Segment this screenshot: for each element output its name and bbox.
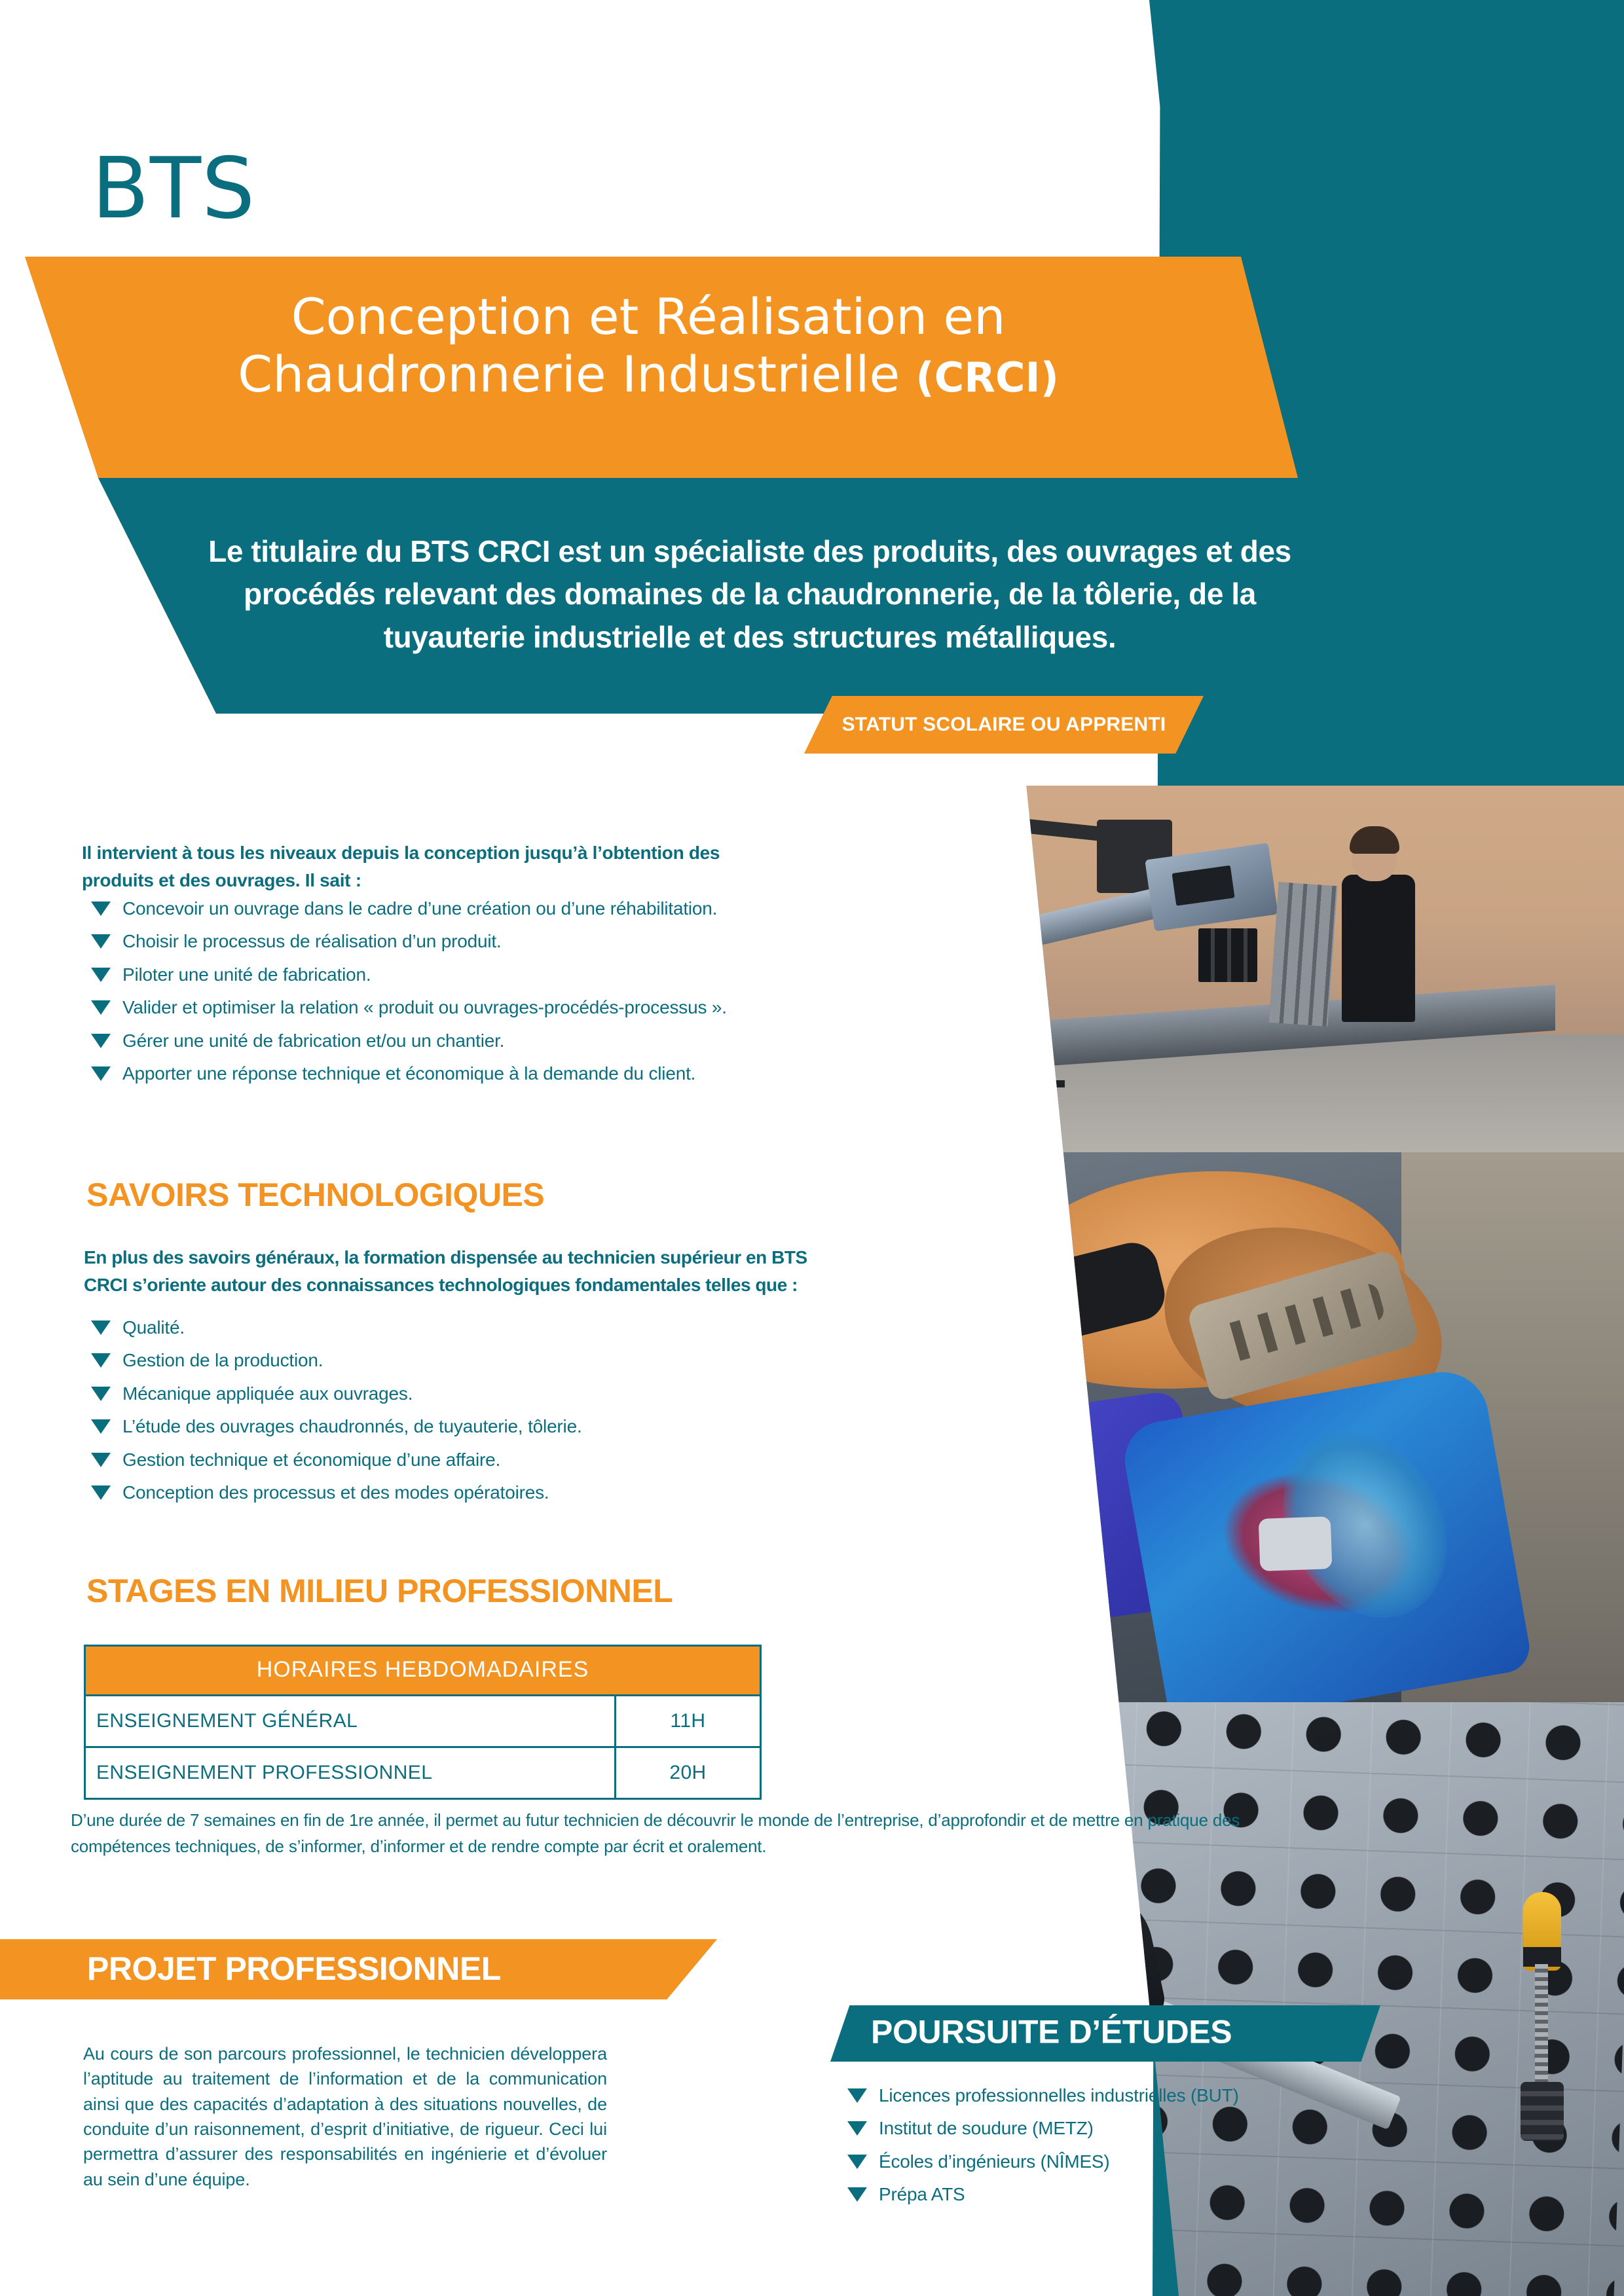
section-heading-stages: STAGES EN MILIEU PROFESSIONNEL: [86, 1575, 673, 1607]
triangle-bullet-icon: [847, 2121, 867, 2136]
triangle-bullet-icon: [91, 1034, 111, 1048]
intro-lead: Il intervient à tous les niveaux depuis …: [82, 839, 783, 894]
table-cell-label: ENSEIGNEMENT PROFESSIONNEL: [85, 1747, 616, 1799]
weekly-hours-table: HORAIRES HEBDOMADAIRES ENSEIGNEMENT GÉNÉ…: [84, 1645, 762, 1800]
triangle-bullet-icon: [91, 1453, 111, 1467]
list-item: Licences professionnelles industrielles …: [838, 2084, 1493, 2107]
title-line-2-wrap: Chaudronnerie Industrielle (CRCI): [138, 346, 1159, 403]
savoirs-list: Qualité. Gestion de la production. Mécan…: [82, 1316, 802, 1514]
triangle-bullet-icon: [91, 968, 111, 982]
stages-paragraph: D’une durée de 7 semaines en fin de 1re …: [71, 1807, 1269, 1860]
intro-list: Concevoir un ouvrage dans le cadre d’une…: [82, 897, 802, 1095]
list-item: Écoles d’ingénieurs (NÎMES): [838, 2150, 1493, 2174]
status-badge-label: STATUT SCOLAIRE OU APPRENTI: [842, 714, 1166, 736]
triangle-bullet-icon: [91, 1419, 111, 1434]
title-line-2: Chaudronnerie Industrielle: [238, 345, 900, 403]
table-cell-value: 11H: [616, 1696, 761, 1747]
triangle-bullet-icon: [91, 1000, 111, 1015]
savoirs-lead: En plus des savoirs généraux, la formati…: [84, 1244, 817, 1299]
list-item-label: Apporter une réponse technique et économ…: [122, 1063, 695, 1084]
list-item-label: Gestion de la production.: [122, 1350, 323, 1370]
list-item-label: Conception des processus et des modes op…: [122, 1482, 549, 1503]
list-item: Mécanique appliquée aux ouvrages.: [82, 1382, 802, 1406]
list-item-label: Piloter une unité de fabrication.: [122, 964, 371, 985]
table-row: ENSEIGNEMENT PROFESSIONNEL 20H: [85, 1747, 761, 1799]
list-item: Prépa ATS: [838, 2183, 1493, 2206]
list-item: Qualité.: [82, 1316, 802, 1339]
list-item: Piloter une unité de fabrication.: [82, 963, 802, 987]
list-item: Apporter une réponse technique et économ…: [82, 1062, 802, 1085]
title-abbreviation: (CRCI): [915, 354, 1058, 401]
section-heading-savoirs: SAVOIRS TECHNOLOGIQUES: [86, 1178, 544, 1211]
section-heading-projet: PROJET PROFESSIONNEL: [87, 1950, 501, 1988]
triangle-bullet-icon: [91, 934, 111, 949]
triangle-bullet-icon: [91, 1321, 111, 1335]
list-item: Gestion technique et économique d’une af…: [82, 1448, 802, 1472]
triangle-bullet-icon: [847, 2088, 867, 2103]
banner-projet-professionnel: PROJET PROFESSIONNEL: [0, 1939, 717, 1999]
list-item: Choisir le processus de réalisation d’un…: [82, 930, 802, 953]
poster-page: BTS Conception et Réalisation en Chaudro…: [0, 0, 1624, 2296]
list-item: Valider et optimiser la relation « produ…: [82, 996, 802, 1019]
list-item-label: Choisir le processus de réalisation d’un…: [122, 931, 502, 951]
list-item: Gérer une unité de fabrication et/ou un …: [82, 1029, 802, 1053]
poursuite-list: Licences professionnelles industrielles …: [838, 2084, 1493, 2216]
triangle-bullet-icon: [847, 2155, 867, 2169]
triangle-bullet-icon: [91, 1387, 111, 1401]
section-heading-poursuite: POURSUITE D’ÉTUDES: [871, 2013, 1232, 2051]
status-badge: STATUT SCOLAIRE OU APPRENTI: [804, 696, 1204, 754]
table-row: ENSEIGNEMENT GÉNÉRAL 11H: [85, 1696, 761, 1747]
list-item-label: Gérer une unité de fabrication et/ou un …: [122, 1030, 504, 1051]
title-line-1: Conception et Réalisation en: [138, 288, 1159, 346]
projet-paragraph: Au cours de son parcours professionnel, …: [83, 2041, 607, 2192]
list-item: Concevoir un ouvrage dans le cadre d’une…: [82, 897, 802, 920]
triangle-bullet-icon: [91, 902, 111, 916]
list-item-label: Qualité.: [122, 1317, 185, 1338]
list-item-label: Mécanique appliquée aux ouvrages.: [122, 1383, 413, 1404]
list-item: L’étude des ouvrages chaudronnés, de tuy…: [82, 1415, 802, 1438]
list-item-label: Valider et optimiser la relation « produ…: [122, 997, 727, 1017]
list-item-label: Licences professionnelles industrielles …: [879, 2085, 1239, 2105]
banner-poursuite-etudes: POURSUITE D’ÉTUDES: [830, 2005, 1380, 2062]
table-header-row: HORAIRES HEBDOMADAIRES: [85, 1646, 761, 1696]
diploma-label: BTS: [92, 147, 255, 231]
list-item-label: Concevoir un ouvrage dans le cadre d’une…: [122, 898, 717, 919]
triangle-bullet-icon: [91, 1353, 111, 1368]
list-item: Conception des processus et des modes op…: [82, 1481, 802, 1504]
list-item: Gestion de la production.: [82, 1349, 802, 1372]
list-item-label: Écoles d’ingénieurs (NÎMES): [879, 2151, 1110, 2172]
triangle-bullet-icon: [91, 1066, 111, 1081]
triangle-bullet-icon: [91, 1485, 111, 1500]
triangle-bullet-icon: [847, 2187, 867, 2202]
table-cell-label: ENSEIGNEMENT GÉNÉRAL: [85, 1696, 616, 1747]
page-title: Conception et Réalisation en Chaudronner…: [138, 288, 1159, 403]
list-item-label: L’étude des ouvrages chaudronnés, de tuy…: [122, 1416, 582, 1436]
list-item-label: Prépa ATS: [879, 2184, 965, 2204]
table-header-cell: HORAIRES HEBDOMADAIRES: [85, 1646, 761, 1696]
table-cell-value: 20H: [616, 1747, 761, 1799]
list-item-label: Institut de soudure (METZ): [879, 2118, 1094, 2138]
list-item: Institut de soudure (METZ): [838, 2117, 1493, 2140]
list-item-label: Gestion technique et économique d’une af…: [122, 1449, 500, 1470]
page-subtitle: Le titulaire du BTS CRCI est un spéciali…: [196, 530, 1303, 659]
